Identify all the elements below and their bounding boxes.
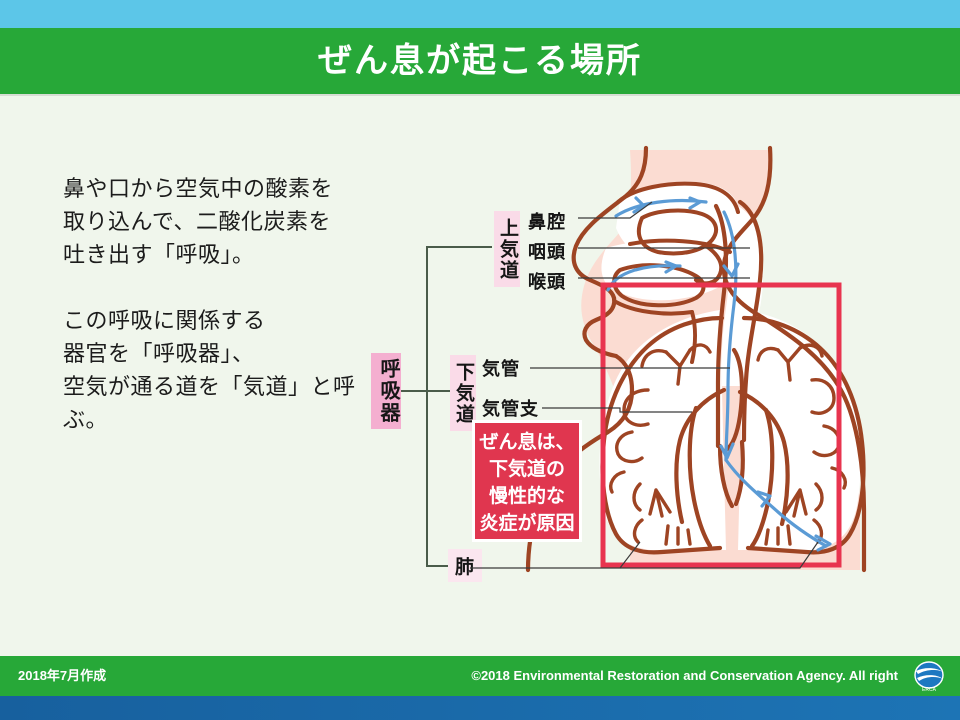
bottom-accent-strip [0,696,960,720]
bracket-branch-lung [426,565,448,567]
footer-copyright: ©2018 Environmental Restoration and Cons… [471,656,898,696]
label-larynx: 喉頭 [528,268,566,294]
lead-line: 器官を「呼吸器」、 [63,341,255,366]
bracket-branch-lower-airway [426,390,450,392]
label-bronchus: 気管支 [482,395,539,421]
erca-logo-icon: ERCA [906,659,952,693]
lead-paragraph-2: この呼吸に関係する 器官を「呼吸器」、 空気が通る道を「気道」と呼ぶ。 [63,304,393,436]
label-respiratory-system: 呼吸器 [371,353,401,429]
lower-airway-highlight-box [600,282,842,568]
label-upper-airway-group: 上気道 [494,211,520,287]
asthma-cause-callout: ぜん息は、 下気道の 慢性的な 炎症が原因 [472,420,582,542]
callout-line: 慢性的な [475,483,579,510]
svg-text:ERCA: ERCA [922,687,937,693]
label-pharynx: 咽頭 [528,238,566,264]
bracket-spine [426,246,428,566]
lead-line: 鼻や口から空気中の酸素を [63,176,333,201]
footer-created-date: 2018年7月作成 [18,656,106,696]
lead-line: 空気が通る道を「気道」と呼ぶ。 [63,374,356,432]
lead-paragraph-1: 鼻や口から空気中の酸素を 取り込んで、二酸化炭素を 吐き出す「呼吸」。 [63,172,393,271]
callout-line: 炎症が原因 [475,510,579,537]
callout-line: 下気道の [475,456,579,483]
lead-line: この呼吸に関係する [63,308,266,333]
bracket-branch-upper-airway [426,246,492,248]
title-banner: ぜん息が起こる場所 [0,28,960,94]
label-trachea: 気管 [482,355,520,381]
slide-root: ぜん息が起こる場所 鼻や口から空気中の酸素を 取り込んで、二酸化炭素を 吐き出す… [0,0,960,720]
top-accent-strip [0,0,960,28]
callout-line: ぜん息は、 [475,429,579,456]
label-nasal-cavity: 鼻腔 [528,208,566,234]
lead-text-block: 鼻や口から空気中の酸素を 取り込んで、二酸化炭素を 吐き出す「呼吸」。 この呼吸… [63,172,393,436]
lead-line: 吐き出す「呼吸」。 [63,242,255,267]
lead-line: 取り込んで、二酸化炭素を [63,209,331,234]
page-title: ぜん息が起こる場所 [0,28,960,94]
label-lung: 肺 [448,549,482,582]
